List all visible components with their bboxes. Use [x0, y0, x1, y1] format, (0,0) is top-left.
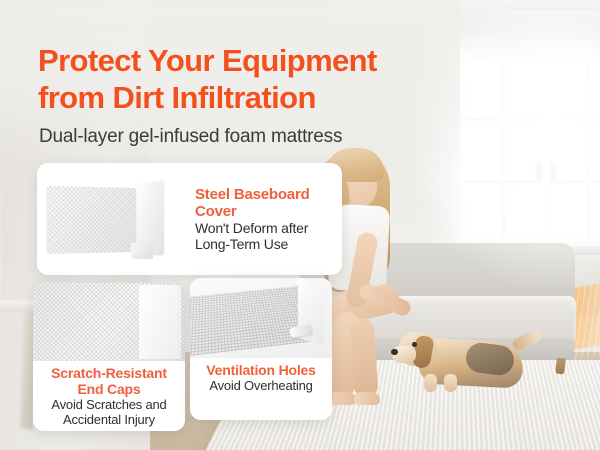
feature-card-subtitle: Avoid Scratches and Accidental Injury: [38, 397, 180, 427]
baseboard-cover-product-photo: [37, 163, 189, 275]
dog-nose: [391, 349, 398, 355]
window-sash-left: [465, 62, 543, 238]
feature-card-title: Steel Baseboard Cover: [195, 186, 336, 220]
page-title: Protect Your Equipment from Dirt Infiltr…: [38, 42, 377, 116]
window-handle: [537, 162, 541, 179]
feature-card-subtitle: Avoid Overheating: [195, 378, 327, 393]
sofa-leg: [555, 358, 566, 375]
window-sash-right: [549, 62, 600, 238]
window: [455, 52, 600, 248]
vent-panel-edge: [298, 278, 324, 347]
feature-card-steel-baseboard-cover[interactable]: Steel Baseboard Cover Won't Deform after…: [37, 163, 342, 275]
woman-foot: [354, 392, 380, 405]
page-subtitle: Dual-layer gel-infused foam mattress: [39, 126, 342, 148]
cover-front-mesh-face: [47, 186, 137, 254]
window-mullion-vertical: [501, 62, 505, 238]
window-handle: [551, 162, 555, 179]
feature-card-title: Scratch-Resistant End Caps: [38, 365, 180, 397]
window-mullion-horizontal: [549, 118, 600, 121]
promo-banner: Protect Your Equipment from Dirt Infiltr…: [0, 0, 600, 450]
cover-foot: [131, 243, 153, 259]
feature-card-subtitle: Won't Deform after Long-Term Use: [195, 220, 336, 252]
woman-foot: [330, 392, 356, 405]
window-mullion-vertical: [587, 62, 591, 238]
feature-card-title: Ventilation Holes: [195, 362, 327, 378]
dog-eye: [412, 342, 417, 347]
perforated-vent-panel-photo: [190, 278, 332, 358]
window-mullion-horizontal: [549, 180, 600, 183]
ceiling: [330, 0, 600, 34]
feature-card-scratch-resistant-end-caps[interactable]: Scratch-Resistant End Caps Avoid Scratch…: [33, 283, 185, 431]
end-cap-closeup-photo: [33, 283, 185, 361]
dog-leg: [444, 374, 457, 392]
dog-leg: [424, 374, 437, 392]
end-cap-piece: [139, 285, 181, 359]
feature-card-ventilation-holes[interactable]: Ventilation Holes Avoid Overheating: [190, 278, 332, 420]
